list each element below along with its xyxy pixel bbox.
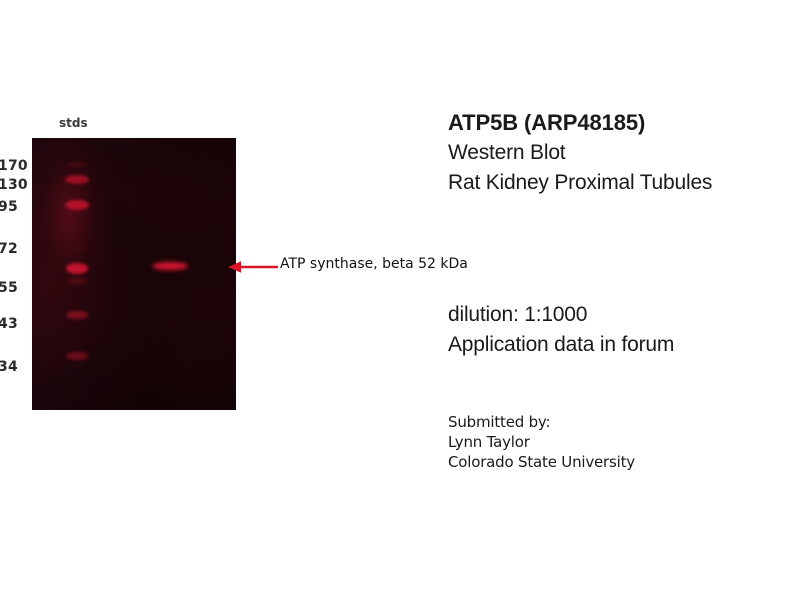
sample-label: Rat Kidney Proximal Tubules (448, 168, 800, 198)
lane-label-stds: stds (59, 116, 88, 130)
mw-marker-label: 34 (0, 359, 28, 375)
submitter-panel: Submitted by: Lynn Taylor Colorado State… (448, 412, 800, 472)
blot-vignette (32, 138, 236, 410)
left-arrow-icon (228, 260, 278, 274)
band-annotation-label: ATP synthase, beta 52 kDa (280, 256, 468, 272)
submitted-by-heading: Submitted by: (448, 412, 800, 432)
figure-detail-panel: dilution: 1:1000 Application data in for… (448, 300, 800, 360)
dilution-label: dilution: 1:1000 (448, 300, 800, 330)
mw-marker-label: 130 (0, 177, 28, 193)
mw-marker-label: 72 (0, 241, 28, 257)
western-blot-image (32, 138, 236, 410)
molecular-weight-axis: 1701309572554334 (0, 138, 28, 410)
figure-info-panel: ATP5B (ARP48185) Western Blot Rat Kidney… (448, 108, 800, 198)
application-note-label: Application data in forum (448, 330, 800, 360)
mw-marker-label: 170 (0, 158, 28, 174)
mw-marker-label: 55 (0, 280, 28, 296)
page-title: ATP5B (ARP48185) (448, 108, 800, 138)
mw-marker-label: 43 (0, 316, 28, 332)
technique-label: Western Blot (448, 138, 800, 168)
figure-canvas: 1701309572554334 stds ATP synthase, beta… (0, 0, 800, 600)
submitter-institution: Colorado State University (448, 452, 800, 472)
mw-marker-label: 95 (0, 199, 28, 215)
submitter-name: Lynn Taylor (448, 432, 800, 452)
